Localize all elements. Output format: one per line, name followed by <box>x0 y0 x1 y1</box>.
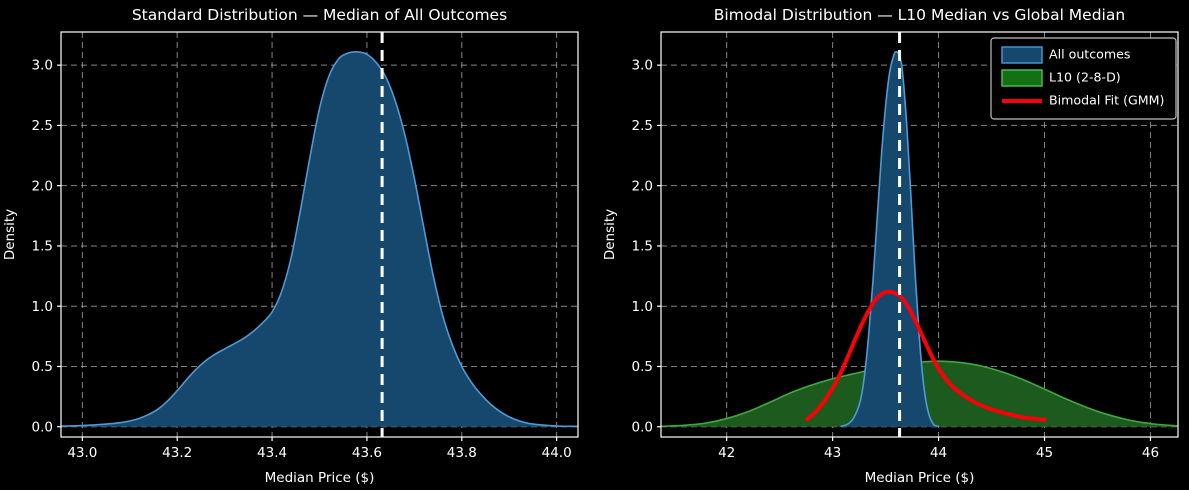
legend-swatch <box>1002 70 1042 86</box>
x-tick-label: 44.0 <box>542 445 572 461</box>
y-tick-label: 3.0 <box>32 58 53 74</box>
x-tick-label: 43.4 <box>257 445 287 461</box>
legend-label: L10 (2-8-D) <box>1049 70 1121 85</box>
figure-canvas: Standard Distribution — Median of All Ou… <box>0 0 1189 490</box>
y-tick-label: 0.0 <box>632 419 653 435</box>
y-tick-label: 0.5 <box>32 359 53 375</box>
y-tick-label: 2.5 <box>32 118 53 134</box>
y-axis-label: Density <box>2 209 18 260</box>
y-tick-label: 0.0 <box>32 419 53 435</box>
legend-label: All outcomes <box>1049 47 1130 62</box>
x-axis-label: Median Price ($) <box>865 470 975 486</box>
x-tick-label: 46 <box>1142 445 1159 461</box>
x-tick-label: 43.8 <box>447 445 477 461</box>
chart-svg: Standard Distribution — Median of All Ou… <box>0 0 595 490</box>
chart-panel-bimodal-distribution: Bimodal Distribution — L10 Median vs Glo… <box>594 0 1189 490</box>
x-tick-label: 45 <box>1036 445 1053 461</box>
chart-legend[interactable]: All outcomesL10 (2-8-D)Bimodal Fit (GMM) <box>991 38 1176 119</box>
y-tick-label: 1.0 <box>32 299 53 315</box>
y-tick-label: 1.0 <box>632 299 653 315</box>
y-tick-label: 3.0 <box>632 58 653 74</box>
x-tick-label: 43.2 <box>162 445 192 461</box>
chart-panel-standard-distribution: Standard Distribution — Median of All Ou… <box>0 0 595 490</box>
y-tick-label: 2.0 <box>632 178 653 194</box>
y-axis-label: Density <box>602 209 618 260</box>
x-tick-label: 44 <box>930 445 947 461</box>
y-tick-label: 1.5 <box>32 239 53 255</box>
chart-title: Standard Distribution — Median of All Ou… <box>132 6 507 24</box>
x-tick-label: 43.6 <box>352 445 382 461</box>
y-tick-label: 2.0 <box>32 178 53 194</box>
y-tick-label: 0.5 <box>632 359 653 375</box>
chart-title: Bimodal Distribution — L10 Median vs Glo… <box>714 6 1125 24</box>
x-tick-label: 42 <box>718 445 735 461</box>
y-tick-label: 1.5 <box>632 239 653 255</box>
legend-swatch <box>1002 47 1042 63</box>
x-axis-label: Median Price ($) <box>265 470 375 486</box>
legend-label: Bimodal Fit (GMM) <box>1049 93 1164 108</box>
x-tick-label: 43.0 <box>67 445 97 461</box>
x-tick-label: 43 <box>824 445 841 461</box>
y-tick-label: 2.5 <box>632 118 653 134</box>
chart-svg: Bimodal Distribution — L10 Median vs Glo… <box>594 0 1189 490</box>
